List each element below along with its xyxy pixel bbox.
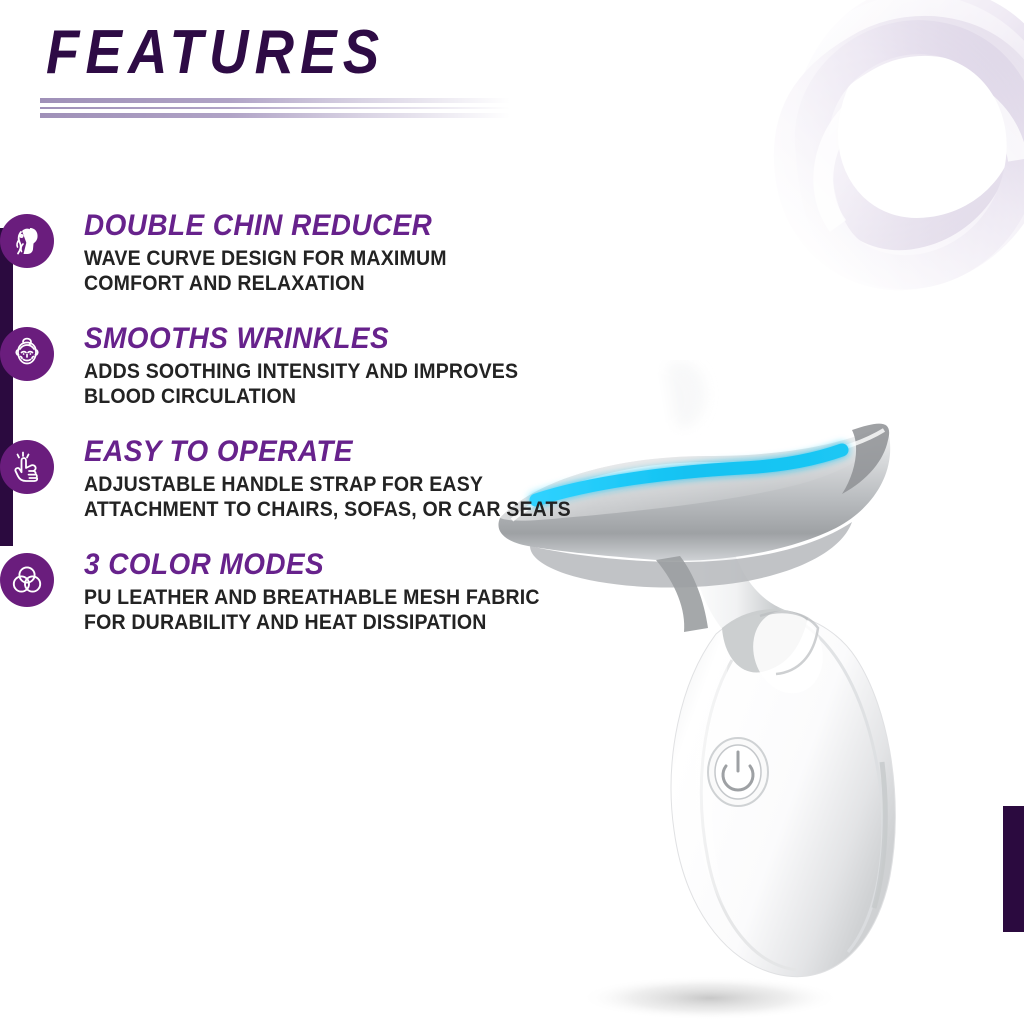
feature-title: 3 COLOR MODES <box>84 549 540 581</box>
feature-item: SMOOTHS WRINKLES ADDS SOOTHING INTENSITY… <box>0 323 620 410</box>
head-glare <box>617 360 706 438</box>
chin-profile-icon <box>0 214 54 268</box>
wrinkled-face-icon <box>0 327 54 381</box>
feature-title: DOUBLE CHIN REDUCER <box>84 210 447 242</box>
abstract-ribbon-graphic <box>768 0 1024 324</box>
feature-title: EASY TO OPERATE <box>84 436 571 468</box>
feature-description: ADJUSTABLE HANDLE STRAP FOR EASY ATTACHM… <box>84 472 571 523</box>
infographic-canvas: FEATURES <box>0 0 1024 1024</box>
tapping-hand-icon <box>0 440 54 494</box>
feature-item: 3 COLOR MODES PU LEATHER AND BREATHABLE … <box>0 549 620 636</box>
right-accent-bar <box>1003 806 1024 932</box>
device-shadow <box>580 976 840 1020</box>
divider-line-3 <box>40 113 510 118</box>
three-circles-icon <box>0 553 54 607</box>
divider-line-2 <box>40 107 510 109</box>
feature-description: WAVE CURVE DESIGN FOR MAXIMUM COMFORT AN… <box>84 246 447 297</box>
feature-item: EASY TO OPERATE ADJUSTABLE HANDLE STRAP … <box>0 436 620 523</box>
feature-title: SMOOTHS WRINKLES <box>84 323 518 355</box>
power-button[interactable] <box>708 738 768 806</box>
feature-item: DOUBLE CHIN REDUCER WAVE CURVE DESIGN FO… <box>0 210 620 297</box>
divider-line-1 <box>40 98 510 103</box>
device-handle <box>671 602 895 977</box>
features-list: DOUBLE CHIN REDUCER WAVE CURVE DESIGN FO… <box>0 210 620 662</box>
feature-description: ADDS SOOTHING INTENSITY AND IMPROVES BLO… <box>84 359 518 410</box>
title-divider-lines <box>40 98 510 122</box>
feature-description: PU LEATHER AND BREATHABLE MESH FABRIC FO… <box>84 585 540 636</box>
page-title: FEATURES <box>46 22 385 84</box>
